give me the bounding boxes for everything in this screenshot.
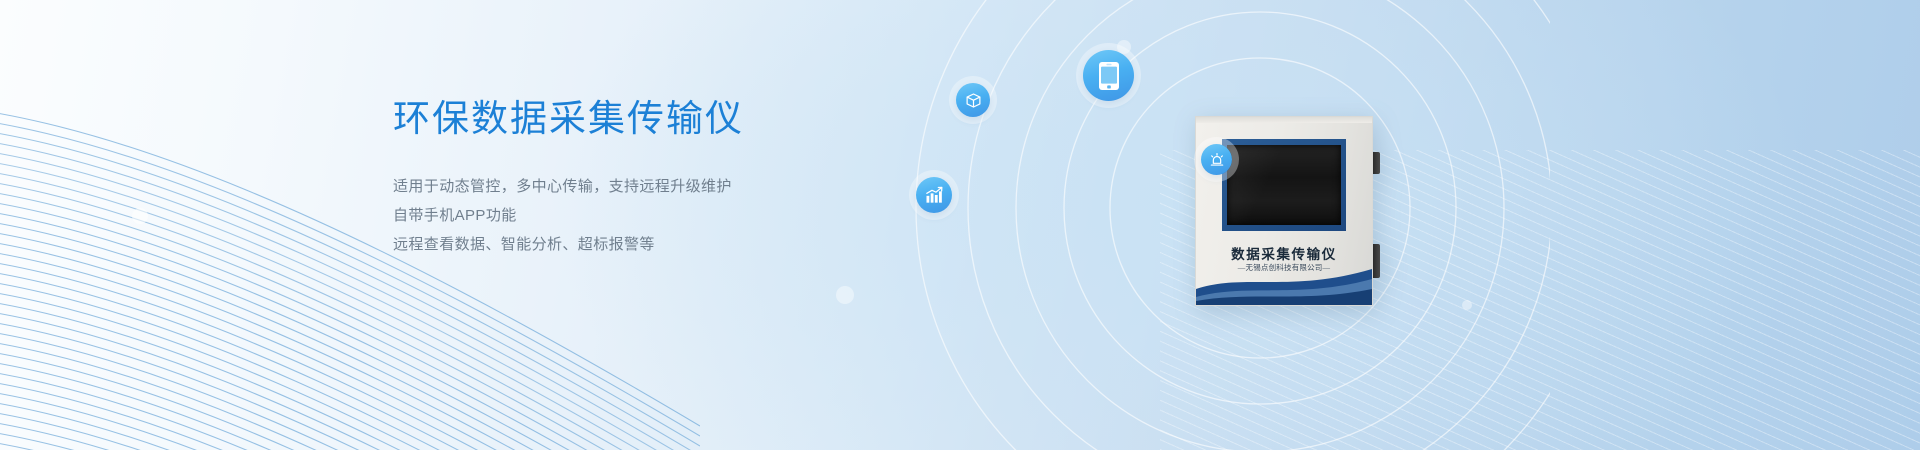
device-top-strip xyxy=(1196,117,1372,123)
page-title: 环保数据采集传输仪 xyxy=(393,96,823,142)
bokeh-dot xyxy=(132,208,148,224)
box-icon[interactable] xyxy=(956,83,990,117)
radial-arcs-decoration xyxy=(830,0,1550,450)
feature-line: 适用于动态管控，多中心传输，支持远程升级维护 xyxy=(393,172,823,201)
device-screen xyxy=(1227,145,1341,225)
feature-list: 适用于动态管控，多中心传输，支持远程升级维护 自带手机APP功能 远程查看数据、… xyxy=(393,172,823,259)
device-side-port xyxy=(1373,152,1380,174)
hero-copy: 环保数据采集传输仪 适用于动态管控，多中心传输，支持远程升级维护 自带手机APP… xyxy=(393,96,823,259)
bokeh-dot xyxy=(836,286,854,304)
phone-icon[interactable] xyxy=(1083,50,1134,101)
chart-icon[interactable] xyxy=(916,177,952,213)
feature-line: 自带手机APP功能 xyxy=(393,201,823,230)
device-screen-frame xyxy=(1222,139,1346,231)
feature-line: 远程查看数据、智能分析、超标报警等 xyxy=(393,230,823,259)
device-label: 数据采集传输仪 xyxy=(1196,243,1372,263)
hero-banner: 环保数据采集传输仪 适用于动态管控，多中心传输，支持远程升级维护 自带手机APP… xyxy=(0,0,1920,450)
device-wave-graphic xyxy=(1196,263,1372,305)
device-side-port xyxy=(1373,244,1380,278)
alarm-icon[interactable] xyxy=(1201,144,1232,175)
bokeh-dot xyxy=(1462,300,1472,310)
